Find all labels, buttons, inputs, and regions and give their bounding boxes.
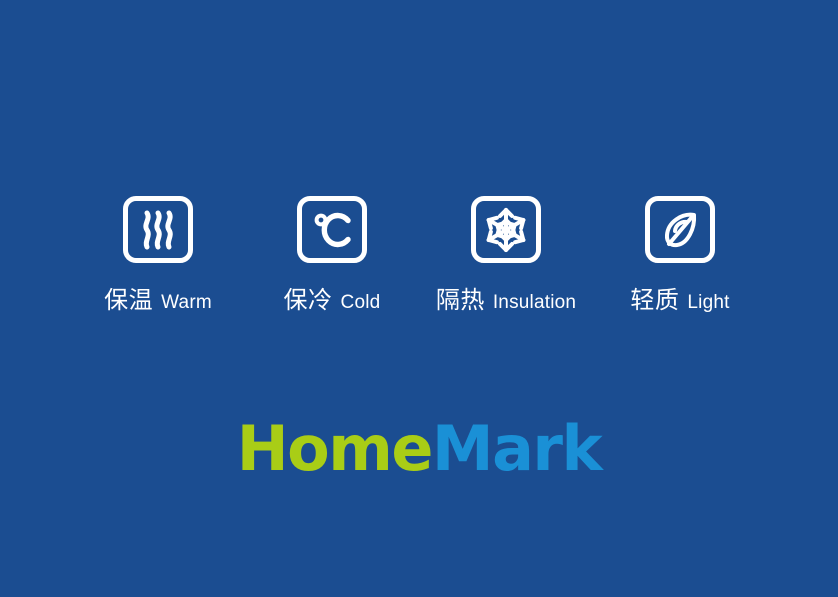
feature-label-en: Warm [161,293,212,312]
feature-label-cn: 隔热 [436,289,485,313]
feature-label-en: Insulation [493,293,576,312]
poster-background: 保温 Warm 保冷 Cold [0,0,838,597]
feature-row: 保温 Warm 保冷 Cold [0,196,838,313]
brand-logo-home: Home [237,412,432,485]
feature-label-insulation: 隔热 Insulation [436,289,576,313]
feature-item-light[interactable]: 轻质 Light [593,196,767,313]
feature-label-light: 轻质 Light [630,289,729,313]
feature-label-cn: 保冷 [284,289,333,313]
brand-logo-mark: Mark [432,412,601,485]
brand-logo[interactable]: HomeMark [0,418,838,480]
feature-item-cold[interactable]: 保冷 Cold [245,196,419,313]
feature-label-cn: 轻质 [630,289,679,313]
feature-item-insulation[interactable]: 隔热 Insulation [419,196,593,313]
heat-waves-icon [123,196,193,263]
leaf-feather-icon [645,196,715,263]
celsius-degree-icon [297,196,367,263]
feature-item-warm[interactable]: 保温 Warm [71,196,245,313]
feature-label-en: Light [687,293,729,312]
feature-label-cold: 保冷 Cold [284,289,381,313]
snowflake-icon [471,196,541,263]
feature-label-cn: 保温 [104,289,153,313]
feature-label-warm: 保温 Warm [104,289,212,313]
feature-label-en: Cold [341,293,381,312]
